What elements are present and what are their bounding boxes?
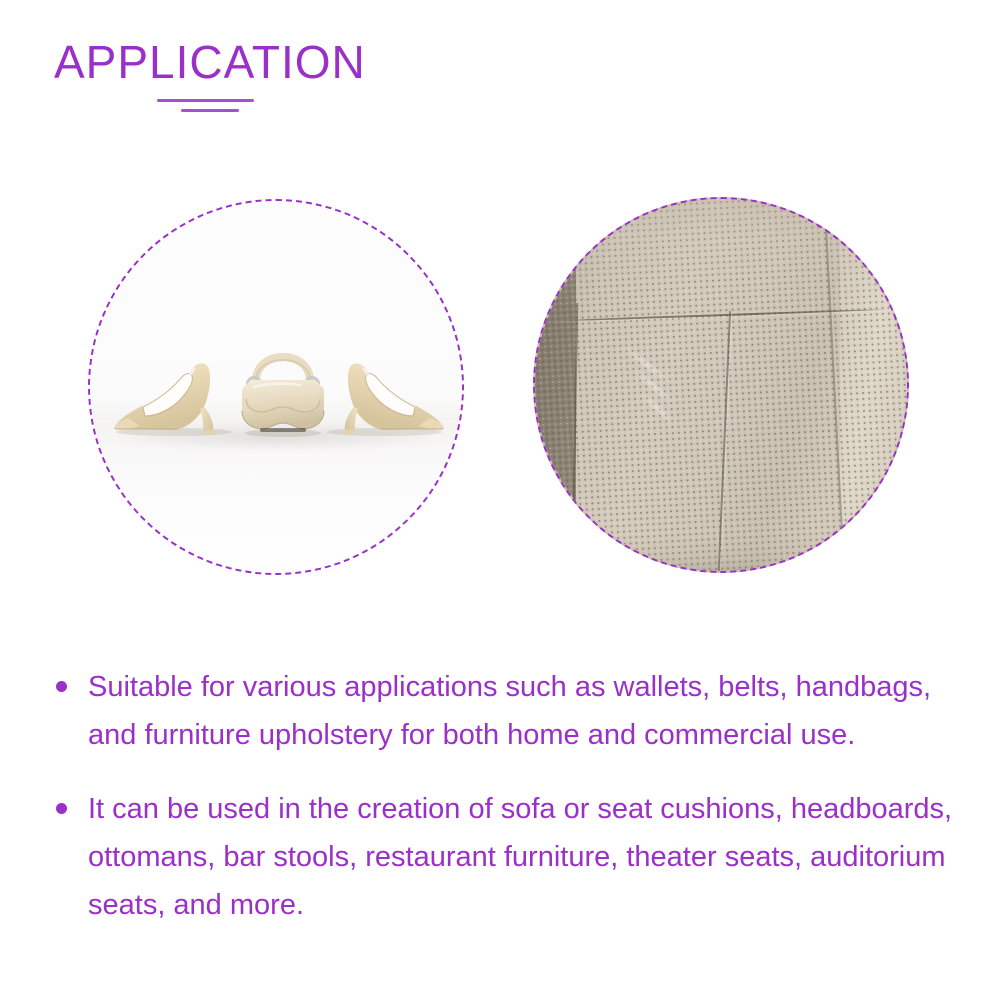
page-title: APPLICATION xyxy=(54,36,366,88)
list-item: Suitable for various applications such a… xyxy=(50,663,960,759)
leather-top-shading xyxy=(535,199,907,311)
title-underline-long xyxy=(157,99,254,102)
bullet-text: It can be used in the creation of sofa o… xyxy=(88,793,952,921)
handbag-icon xyxy=(230,329,336,441)
perforated-leather-upholstery-photo xyxy=(533,197,909,573)
bullet-marker-icon xyxy=(56,681,67,692)
high-heel-shoe-left-icon xyxy=(112,359,246,437)
application-bullet-list: Suitable for various applications such a… xyxy=(50,663,960,955)
list-item: It can be used in the creation of sofa o… xyxy=(50,785,960,929)
perforated-leather-photo-inner xyxy=(535,199,907,571)
title-underline-short xyxy=(181,109,239,112)
fashion-accessories-photo xyxy=(88,199,464,575)
bullet-text: Suitable for various applications such a… xyxy=(88,671,931,751)
leather-bottom-shading xyxy=(535,534,907,571)
bullet-marker-icon xyxy=(56,803,67,814)
fashion-accessories-photo-inner xyxy=(90,201,462,573)
